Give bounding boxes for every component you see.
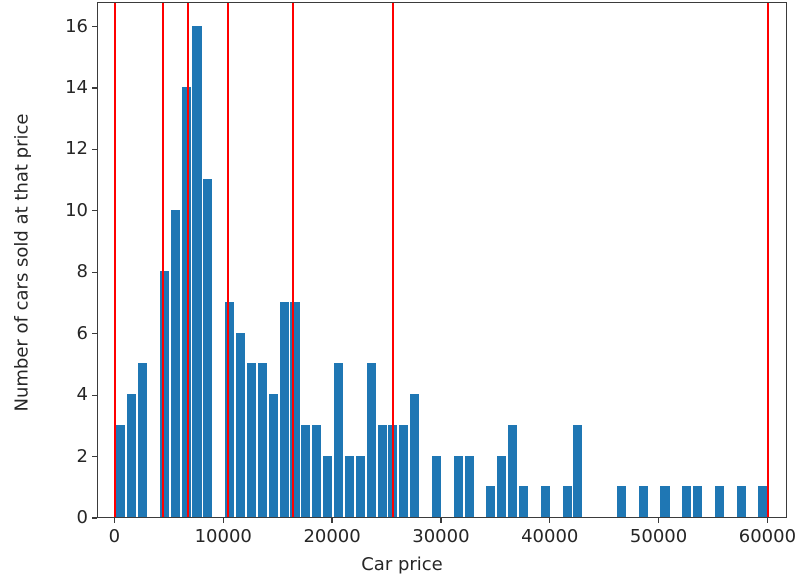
histogram-bar — [171, 210, 180, 517]
y-tick-label: 12 — [65, 138, 88, 160]
x-tick-mark — [549, 518, 550, 523]
x-tick-mark — [767, 518, 768, 523]
price-segment-vline — [162, 3, 164, 517]
histogram-bar — [758, 486, 767, 517]
y-tick-label: 8 — [77, 261, 88, 283]
histogram-bar — [486, 486, 495, 517]
histogram-bar — [682, 486, 691, 517]
x-tick-label: 10000 — [195, 526, 252, 548]
histogram-bar — [399, 425, 408, 517]
x-tick-label: 60000 — [739, 526, 796, 548]
histogram-bar — [432, 456, 441, 517]
histogram-figure: 0246810121416 01000020000300004000050000… — [0, 0, 804, 585]
y-axis-title: Number of cars sold at that price — [12, 5, 33, 521]
histogram-bar — [660, 486, 669, 517]
histogram-bar — [323, 456, 332, 517]
histogram-bar — [356, 456, 365, 517]
histogram-bar — [127, 394, 136, 517]
x-tick-mark — [440, 518, 441, 523]
y-tick-label: 2 — [77, 446, 88, 468]
histogram-bar — [236, 333, 245, 517]
histogram-bar — [737, 486, 746, 517]
y-tick-label: 4 — [77, 384, 88, 406]
y-tick-label: 16 — [65, 16, 88, 38]
histogram-bar — [563, 486, 572, 517]
histogram-bar — [378, 425, 387, 517]
histogram-bar — [573, 425, 582, 517]
histogram-bar — [454, 456, 463, 517]
x-tick-mark — [223, 518, 224, 523]
histogram-bar — [138, 363, 147, 517]
histogram-bar — [617, 486, 626, 517]
histogram-bar — [497, 456, 506, 517]
histogram-bar — [508, 425, 517, 517]
histogram-bar — [258, 363, 267, 517]
x-tick-label: 50000 — [630, 526, 687, 548]
x-tick-label: 0 — [109, 526, 120, 548]
price-segment-vline — [292, 3, 294, 517]
histogram-bar — [301, 425, 310, 517]
y-tick-label: 14 — [65, 77, 88, 99]
histogram-bar — [465, 456, 474, 517]
histogram-bar — [116, 425, 125, 517]
x-tick-mark — [331, 518, 332, 523]
histogram-bar — [693, 486, 702, 517]
histogram-bar — [192, 26, 201, 517]
histogram-bar — [160, 271, 169, 517]
histogram-bar — [519, 486, 528, 517]
price-segment-vline — [114, 3, 116, 517]
histogram-bar — [410, 394, 419, 517]
price-segment-vline — [187, 3, 189, 517]
x-axis-title: Car price — [0, 554, 804, 575]
histogram-bar — [715, 486, 724, 517]
x-tick-label: 20000 — [303, 526, 360, 548]
histogram-bar — [247, 363, 256, 517]
histogram-bar — [203, 179, 212, 517]
x-tick-mark — [114, 518, 115, 523]
histogram-bar — [639, 486, 648, 517]
histogram-bar — [334, 363, 343, 517]
histogram-bar — [541, 486, 550, 517]
x-tick-mark — [658, 518, 659, 523]
y-tick-label: 6 — [77, 323, 88, 345]
histogram-bar — [345, 456, 354, 517]
price-segment-vline — [392, 3, 394, 517]
histogram-bar — [367, 363, 376, 517]
x-tick-label: 40000 — [521, 526, 578, 548]
histogram-bar — [280, 302, 289, 517]
histogram-bar — [312, 425, 321, 517]
x-tick-label: 30000 — [412, 526, 469, 548]
plot-area — [97, 2, 787, 518]
y-tick-label: 10 — [65, 200, 88, 222]
x-axis: 0100002000030000400005000060000 — [0, 518, 804, 558]
price-segment-vline — [767, 3, 769, 517]
price-segment-vline — [227, 3, 229, 517]
histogram-bar — [269, 394, 278, 517]
